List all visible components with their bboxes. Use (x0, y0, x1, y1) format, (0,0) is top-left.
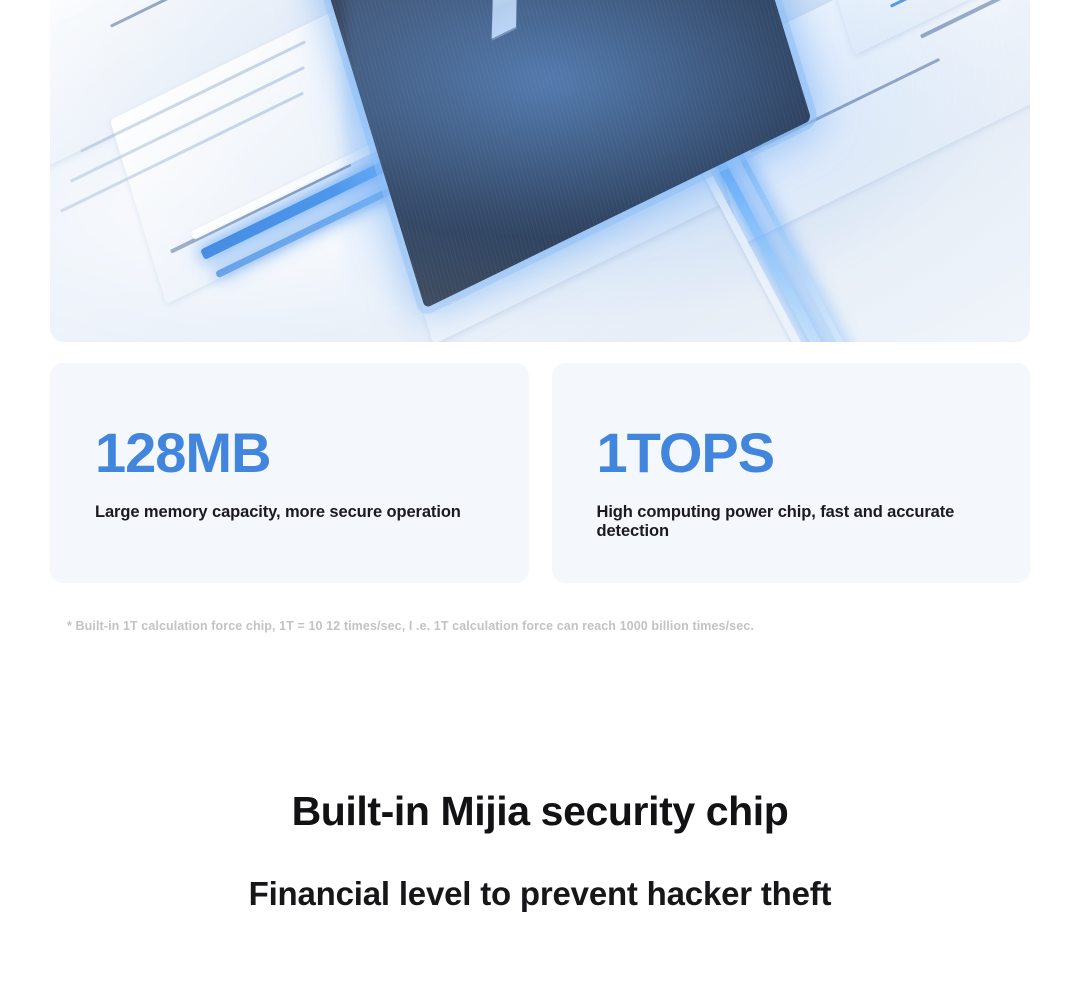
spec-description: Large memory capacity, more secure opera… (95, 503, 529, 522)
page-title: Built-in Mijia security chip (0, 789, 1080, 834)
page-subtitle: Financial level to prevent hacker theft (0, 876, 1080, 912)
hero-image-canvas: AI (50, 0, 1030, 342)
spec-value: 1TOPS (597, 425, 1031, 481)
hero-vignette (50, 0, 1030, 342)
spec-card-list: 128MB Large memory capacity, more secure… (50, 363, 1030, 583)
footnote-disclaimer: * Built-in 1T calculation force chip, 1T… (67, 619, 754, 633)
spec-card-compute: 1TOPS High computing power chip, fast an… (552, 363, 1031, 583)
spec-description: High computing power chip, fast and accu… (597, 503, 1031, 541)
hero-chip-image: AI (50, 0, 1030, 342)
spec-card-memory: 128MB Large memory capacity, more secure… (50, 363, 529, 583)
spec-value: 128MB (95, 425, 529, 481)
headline-section: Built-in Mijia security chip Financial l… (0, 789, 1080, 912)
